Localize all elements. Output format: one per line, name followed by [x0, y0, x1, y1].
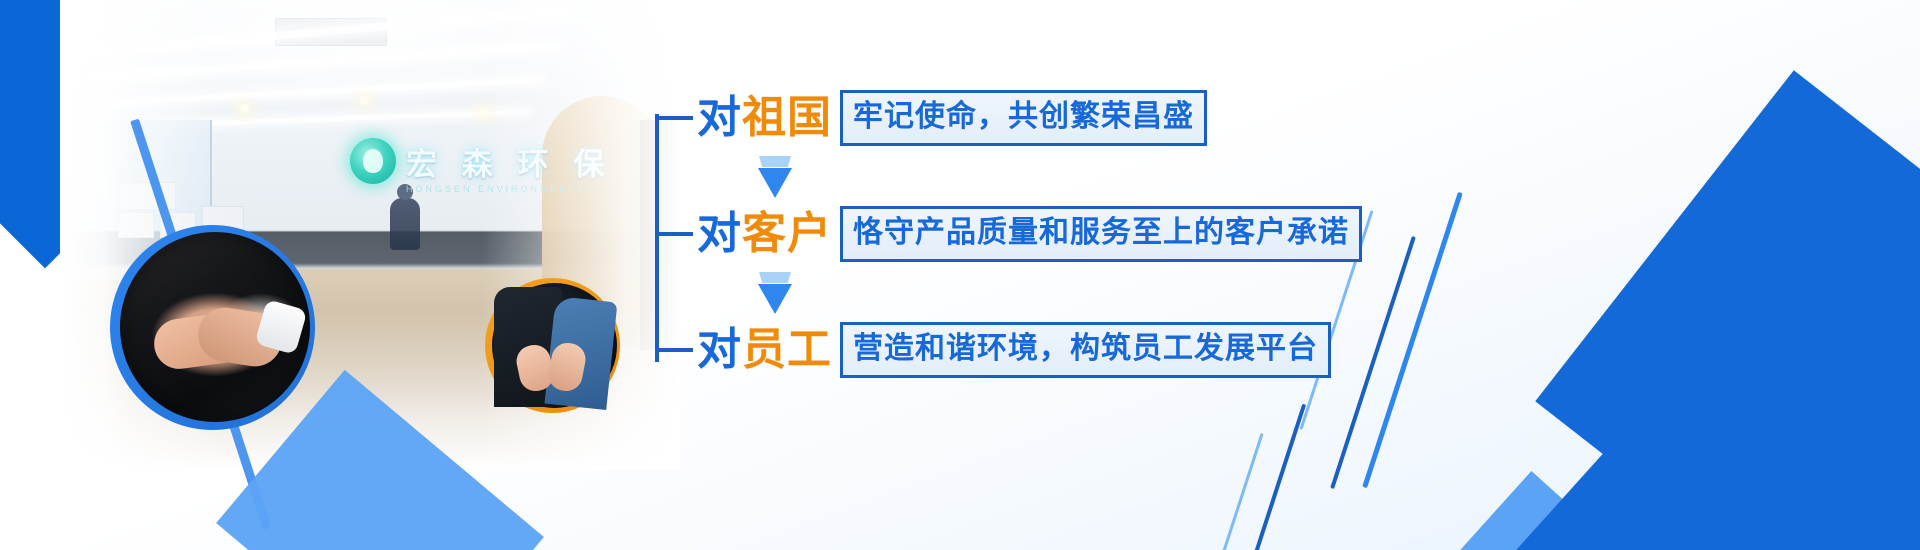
label-prefix: 对: [697, 92, 742, 143]
culture-statement-list: 对祖国 牢记使命，共创繁荣昌盛 对客户 恪守产品质量和服务至上的客户承诺 对员工: [655, 78, 1375, 398]
arrow-body: [758, 168, 792, 198]
bracket-tick: [655, 348, 693, 352]
culture-row-label: 对员工: [697, 328, 832, 372]
culture-statement-chip: 营造和谐环境，构筑员工发展平台: [840, 322, 1331, 378]
culture-statement-chip: 恪守产品质量和服务至上的客户承诺: [840, 206, 1362, 262]
bracket-tick: [655, 116, 693, 120]
arrow-down-icon: [755, 156, 795, 200]
arrow-body: [758, 284, 792, 314]
arrow-cap: [759, 272, 791, 283]
decor-diagonal-line: [1250, 404, 1306, 550]
culture-row-employee: 对员工 营造和谐环境，构筑员工发展平台: [655, 324, 1331, 376]
arrow-down-icon: [755, 272, 795, 316]
culture-row-label: 对客户: [697, 212, 832, 256]
culture-row-country: 对祖国 牢记使命，共创繁荣昌盛: [655, 92, 1207, 144]
decor-diagonal-line: [1217, 433, 1263, 550]
label-target: 员工: [742, 324, 832, 375]
label-prefix: 对: [697, 324, 742, 375]
arrow-cap: [759, 156, 791, 167]
corporate-culture-banner: 宏 森 环 保 HONGSEN ENVIRONMENTAL 对祖国: [0, 0, 1920, 550]
label-target: 客户: [742, 208, 832, 259]
culture-row-customer: 对客户 恪守产品质量和服务至上的客户承诺: [655, 208, 1362, 260]
label-target: 祖国: [742, 92, 832, 143]
applause-photo: [492, 283, 617, 408]
culture-statement-chip: 牢记使命，共创繁荣昌盛: [840, 90, 1207, 146]
bracket-tick: [655, 232, 693, 236]
culture-row-label: 对祖国: [697, 96, 832, 140]
handshake-photo: [120, 232, 310, 422]
label-prefix: 对: [697, 208, 742, 259]
